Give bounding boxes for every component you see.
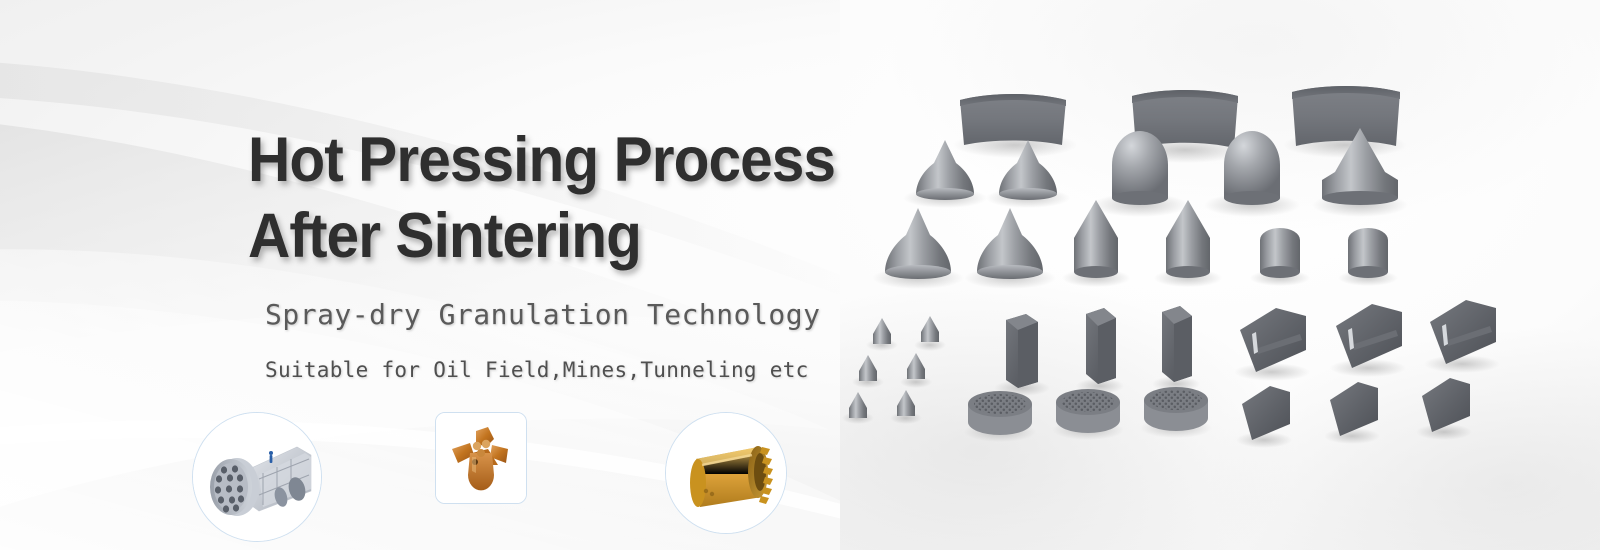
- chisel-bar: [1162, 306, 1192, 382]
- mini-pin: [873, 318, 891, 344]
- dome-top-cylinder: [1224, 131, 1280, 205]
- textured-disc: [1056, 389, 1120, 433]
- pentagon-tip: [1240, 308, 1306, 372]
- bell-button: [885, 208, 951, 279]
- flat-dome-cylinder: [1260, 228, 1300, 278]
- dome-top-cylinder: [1112, 131, 1168, 205]
- thumbnail-pdc-drill-bit[interactable]: [435, 412, 527, 504]
- pentagon-tip: [1242, 386, 1290, 440]
- worker-figure: [269, 451, 273, 463]
- mini-pin: [897, 390, 915, 416]
- thumbnail-tunnel-boring-machine[interactable]: [192, 412, 322, 542]
- pentagon-tip: [1430, 300, 1496, 364]
- pentagon-tip: [1422, 378, 1470, 432]
- banner-subtitle-secondary: Suitable for Oil Field,Mines,Tunneling e…: [265, 358, 809, 382]
- banner-subtitle-primary: Spray-dry Granulation Technology: [265, 298, 820, 331]
- product-banner: Hot Pressing Process After Sintering Spr…: [0, 0, 1600, 550]
- bell-button: [977, 208, 1043, 279]
- mini-pin: [849, 392, 867, 418]
- chisel-bar: [1086, 308, 1116, 384]
- textured-disc: [1144, 387, 1208, 431]
- pentagon-tip: [1330, 382, 1378, 436]
- mini-pin: [907, 353, 925, 379]
- curved-plate: [960, 94, 1066, 145]
- flat-dome-cylinder: [1348, 228, 1388, 278]
- textured-disc: [968, 391, 1032, 435]
- chisel-bar: [1006, 314, 1038, 388]
- mini-pin: [859, 355, 877, 381]
- curved-plate: [1292, 86, 1400, 146]
- pentagon-tip: [1336, 304, 1402, 368]
- thumbnail-core-barrel-bit[interactable]: [665, 412, 787, 534]
- carbide-products-photo: [840, 0, 1600, 550]
- carbide-curved-plate-row: [953, 86, 1407, 163]
- banner-headline: Hot Pressing Process After Sintering: [248, 122, 835, 274]
- mini-pin: [921, 316, 939, 342]
